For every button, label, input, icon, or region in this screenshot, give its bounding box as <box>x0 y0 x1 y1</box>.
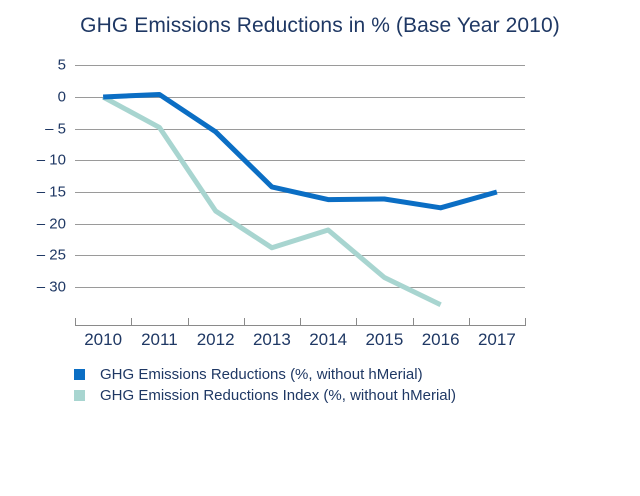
x-axis-tick-label: 2017 <box>478 330 516 350</box>
y-axis-tick-labels: 50– 5– 10– 15– 20– 25– 30 <box>0 60 640 325</box>
x-axis-tick <box>188 318 189 326</box>
x-axis-tick <box>244 318 245 326</box>
legend-item[interactable]: GHG Emissions Reductions (%, without hMe… <box>74 365 594 384</box>
legend-label: GHG Emissions Reductions (%, without hMe… <box>100 366 423 383</box>
y-axis-tick-label: 0 <box>8 89 66 106</box>
y-axis-tick-label: – 15 <box>8 184 66 201</box>
x-axis-tick <box>469 318 470 326</box>
y-axis-tick-label: – 25 <box>8 247 66 264</box>
x-axis-tick-label: 2011 <box>141 330 178 350</box>
x-axis-tick-label: 2016 <box>422 330 460 350</box>
x-axis-tick <box>131 318 132 326</box>
y-axis-tick-label: – 5 <box>8 120 66 137</box>
x-axis-tick-label: 2014 <box>309 330 347 350</box>
chart-title: GHG Emissions Reductions in % (Base Year… <box>0 14 640 38</box>
x-axis-tick <box>75 318 76 326</box>
chart-legend: GHG Emissions Reductions (%, without hMe… <box>74 365 594 407</box>
x-axis-tick-label: 2013 <box>253 330 291 350</box>
y-axis-tick-label: – 10 <box>8 152 66 169</box>
legend-swatch-icon <box>74 390 85 401</box>
y-axis-tick-label: – 30 <box>8 279 66 296</box>
x-axis-tick-label: 2012 <box>197 330 235 350</box>
x-axis-tick <box>525 318 526 326</box>
x-axis-tick <box>413 318 414 326</box>
legend-item[interactable]: GHG Emission Reductions Index (%, withou… <box>74 386 594 405</box>
y-axis-tick-label: – 20 <box>8 215 66 232</box>
x-axis-tick-label: 2010 <box>84 330 122 350</box>
x-axis-tick <box>300 318 301 326</box>
y-axis-tick-label: 5 <box>8 57 66 74</box>
x-axis-tick <box>356 318 357 326</box>
legend-label: GHG Emission Reductions Index (%, withou… <box>100 387 456 404</box>
legend-swatch-icon <box>74 369 85 380</box>
x-axis-tick-label: 2015 <box>365 330 403 350</box>
ghg-emissions-line-chart: GHG Emissions Reductions in % (Base Year… <box>0 0 640 496</box>
